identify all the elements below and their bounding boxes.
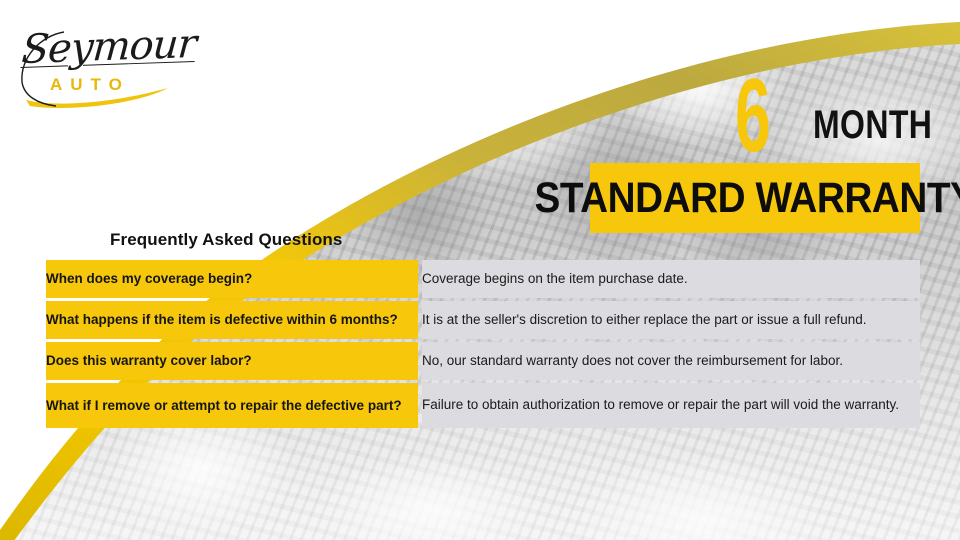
table-row: Does this warranty cover labor? No, our … [46, 342, 920, 380]
duration-header: 6 MONTH [735, 52, 935, 157]
duration-number: 6 [735, 72, 771, 161]
faq-question: When does my coverage begin? [46, 260, 418, 298]
faq-question: Does this warranty cover labor? [46, 342, 418, 380]
table-row: What happens if the item is defective wi… [46, 301, 920, 339]
duration-unit: MONTH [813, 105, 932, 145]
faq-answer: It is at the seller's discretion to eith… [422, 301, 920, 339]
table-row: When does my coverage begin? Coverage be… [46, 260, 920, 298]
standard-warranty-banner: STANDARD WARRANTY [590, 163, 920, 233]
logo-auto-text: AUTO [50, 75, 130, 95]
faq-question: What if I remove or attempt to repair th… [46, 383, 418, 428]
standard-warranty-title: STANDARD WARRANTY [535, 177, 960, 220]
warranty-slide: Seymour AUTO 6 MONTH STANDARD WARRANTY F… [0, 0, 960, 540]
faq-table: When does my coverage begin? Coverage be… [46, 257, 920, 431]
faq-answer: No, our standard warranty does not cover… [422, 342, 920, 380]
table-row: What if I remove or attempt to repair th… [46, 383, 920, 428]
logo-script-text: Seymour [20, 21, 197, 73]
faq-answer: Coverage begins on the item purchase dat… [422, 260, 920, 298]
faq-question: What happens if the item is defective wi… [46, 301, 418, 339]
faq-section-title: Frequently Asked Questions [110, 230, 342, 250]
seymour-auto-logo: Seymour AUTO [18, 22, 208, 110]
faq-answer: Failure to obtain authorization to remov… [422, 383, 920, 428]
